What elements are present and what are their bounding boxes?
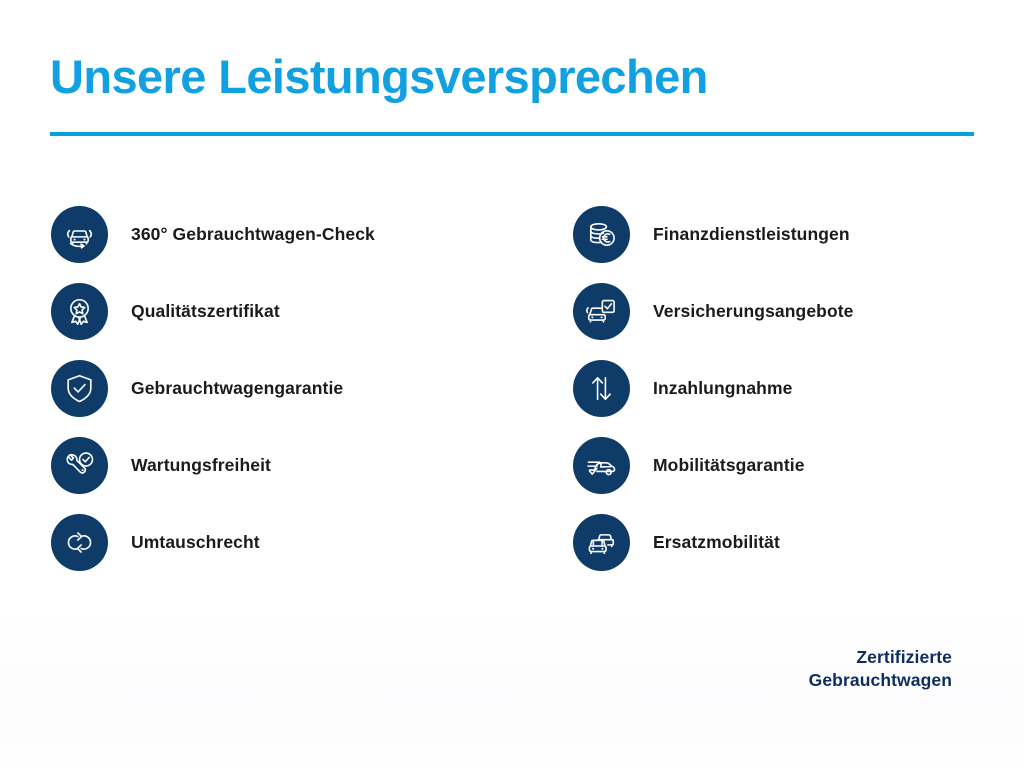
- promise-label: Ersatzmobilität: [653, 532, 780, 553]
- promise-item-ersatzmobilitaet[interactable]: Ersatzmobilität: [573, 504, 993, 581]
- promise-item-umtauschrecht[interactable]: Umtauschrecht: [51, 504, 521, 581]
- promise-label: Gebrauchtwagengarantie: [131, 378, 343, 399]
- footer-line-1: Zertifizierte: [809, 646, 952, 669]
- promise-item-versicherungsangebote[interactable]: Versicherungsangebote: [573, 273, 993, 350]
- award-rosette-icon: [51, 283, 108, 340]
- coins-euro-icon: [573, 206, 630, 263]
- promise-item-gebrauchtwagen-check[interactable]: 360° Gebrauchtwagen-Check: [51, 196, 521, 273]
- certified-used-cars-mark: Zertifizierte Gebrauchtwagen: [809, 646, 952, 692]
- promise-item-qualitaetszertifikat[interactable]: Qualitätszertifikat: [51, 273, 521, 350]
- promise-item-wartungsfreiheit[interactable]: Wartungsfreiheit: [51, 427, 521, 504]
- promises-column-right: Finanzdienstleistungen: [573, 196, 993, 581]
- promise-label: Qualitätszertifikat: [131, 301, 280, 322]
- arrows-up-down-icon: [573, 360, 630, 417]
- shield-check-icon: [51, 360, 108, 417]
- promises-grid: 360° Gebrauchtwagen-Check Qualitätszerti…: [0, 196, 1024, 581]
- title-divider-rule: [50, 132, 974, 136]
- slide-canvas: Unsere Leistungsversprechen: [0, 0, 1024, 768]
- promise-item-gebrauchtwagengarantie[interactable]: Gebrauchtwagengarantie: [51, 350, 521, 427]
- promise-label: Finanzdienstleistungen: [653, 224, 850, 245]
- car-360-check-icon: [51, 206, 108, 263]
- promises-column-left: 360° Gebrauchtwagen-Check Qualitätszerti…: [51, 196, 521, 581]
- promise-label: Mobilitätsgarantie: [653, 455, 805, 476]
- page-title: Unsere Leistungsversprechen: [50, 49, 708, 105]
- promise-label: Wartungsfreiheit: [131, 455, 271, 476]
- promise-item-mobilitaetsgarantie[interactable]: Mobilitätsgarantie: [573, 427, 993, 504]
- footer-line-2: Gebrauchtwagen: [809, 669, 952, 692]
- exchange-arrows-icon: [51, 514, 108, 571]
- promise-label: Umtauschrecht: [131, 532, 260, 553]
- car-checkbox-icon: [573, 283, 630, 340]
- promise-item-inzahlungnahme[interactable]: Inzahlungnahme: [573, 350, 993, 427]
- wrench-check-icon: [51, 437, 108, 494]
- promise-label: Versicherungsangebote: [653, 301, 854, 322]
- car-motion-icon: [573, 437, 630, 494]
- promise-label: 360° Gebrauchtwagen-Check: [131, 224, 375, 245]
- two-cars-icon: [573, 514, 630, 571]
- promise-item-finanzdienstleistungen[interactable]: Finanzdienstleistungen: [573, 196, 993, 273]
- promise-label: Inzahlungnahme: [653, 378, 792, 399]
